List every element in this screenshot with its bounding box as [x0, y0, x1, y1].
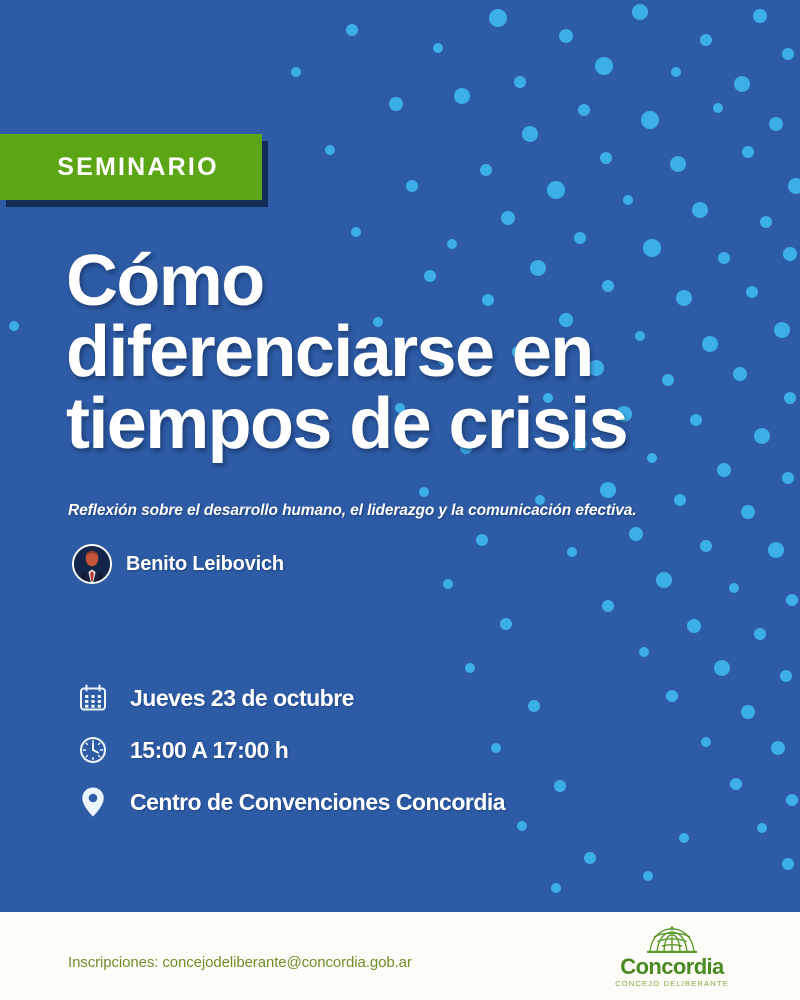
speaker-avatar — [72, 544, 112, 584]
poster-title: Cómo diferenciarse en tiempos de crisis — [66, 246, 726, 460]
seminario-badge: SEMINARIO — [0, 134, 262, 200]
logo-subtitle: CONCEJO DELIBERANTE — [615, 979, 729, 988]
badge-label: SEMINARIO — [43, 153, 218, 182]
event-details-list: Jueves 23 de octubre — [76, 676, 505, 824]
detail-text-venue: Centro de Convenciones Concordia — [130, 789, 505, 816]
poster-hero-background: SEMINARIO Cómo diferenciarse en tiempos … — [0, 0, 800, 912]
poster-subtitle: Reflexión sobre el desarrollo humano, el… — [68, 502, 748, 520]
person-photo-avatar-icon — [74, 546, 110, 582]
detail-text-time: 15:00 A 17:00 h — [130, 737, 288, 764]
detail-row-date: Jueves 23 de octubre — [76, 676, 505, 720]
detail-row-time: 15:00 A 17:00 h — [76, 728, 505, 772]
poster-footer: Inscripciones: concejodeliberante@concor… — [0, 912, 800, 1000]
title-line-3: tiempos de crisis — [66, 389, 726, 460]
calendar-icon — [76, 681, 110, 715]
concordia-dome-icon — [643, 926, 701, 954]
title-line-2: diferenciarse en — [66, 317, 726, 388]
detail-row-venue: Centro de Convenciones Concordia — [76, 780, 505, 824]
event-poster: SEMINARIO Cómo diferenciarse en tiempos … — [0, 0, 800, 1000]
location-pin-icon — [76, 785, 110, 819]
concordia-logo: Concordia CONCEJO DELIBERANTE — [613, 926, 731, 988]
speaker-block: Benito Leibovich — [72, 544, 284, 584]
clock-icon — [76, 733, 110, 767]
badge-body: SEMINARIO — [0, 134, 262, 200]
footer-contact-text: Inscripciones: concejodeliberante@concor… — [68, 954, 412, 971]
title-line-1: Cómo — [66, 246, 726, 317]
detail-text-date: Jueves 23 de octubre — [130, 685, 354, 712]
logo-name: Concordia — [620, 955, 723, 978]
speaker-name: Benito Leibovich — [126, 553, 284, 576]
